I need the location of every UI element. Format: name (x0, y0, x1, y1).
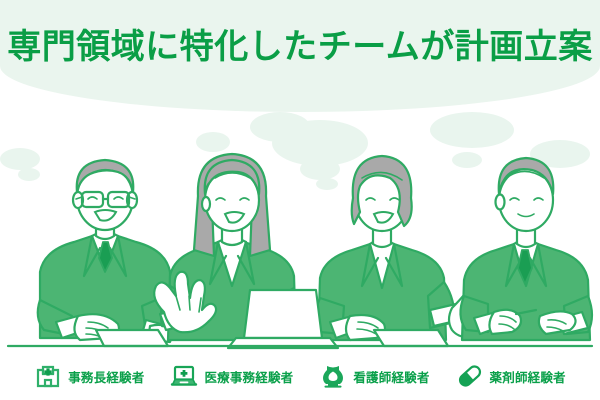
legend-label: 医療事務経験者 (204, 367, 293, 386)
legend-bar: 事務長経験者 医療事務経験者 看護師経験者 (0, 358, 600, 394)
legend-label: 薬剤師経験者 (490, 367, 566, 386)
legend-item-yakuzaishi[interactable]: 薬剤師経験者 (456, 363, 566, 389)
person-4 (460, 158, 592, 340)
paper-right (374, 330, 448, 346)
legend-item-jimucho[interactable]: 事務長経験者 (34, 363, 144, 389)
legend-label: 事務長経験者 (68, 367, 144, 386)
legend-label: 看護師経験者 (353, 367, 429, 386)
hospital-icon (34, 363, 62, 389)
pill-icon (456, 363, 484, 389)
paper-left (96, 330, 168, 346)
page-title: 専門領域に特化したチームが計画立案 (0, 25, 600, 69)
meeting-illustration: .ln{fill:none;stroke:#2faa63;stroke-widt… (0, 100, 600, 355)
laptop-icon (170, 363, 198, 389)
nurse-cap-icon (319, 363, 347, 389)
person-1 (38, 160, 174, 342)
legend-item-kangoshi[interactable]: 看護師経験者 (319, 363, 429, 389)
poster-canvas: 専門領域に特化したチームが計画立案 .ln{fill:none;stroke:#… (0, 0, 600, 400)
legend-item-iryojimu[interactable]: 医療事務経験者 (170, 363, 293, 389)
laptop-screen (244, 290, 322, 338)
